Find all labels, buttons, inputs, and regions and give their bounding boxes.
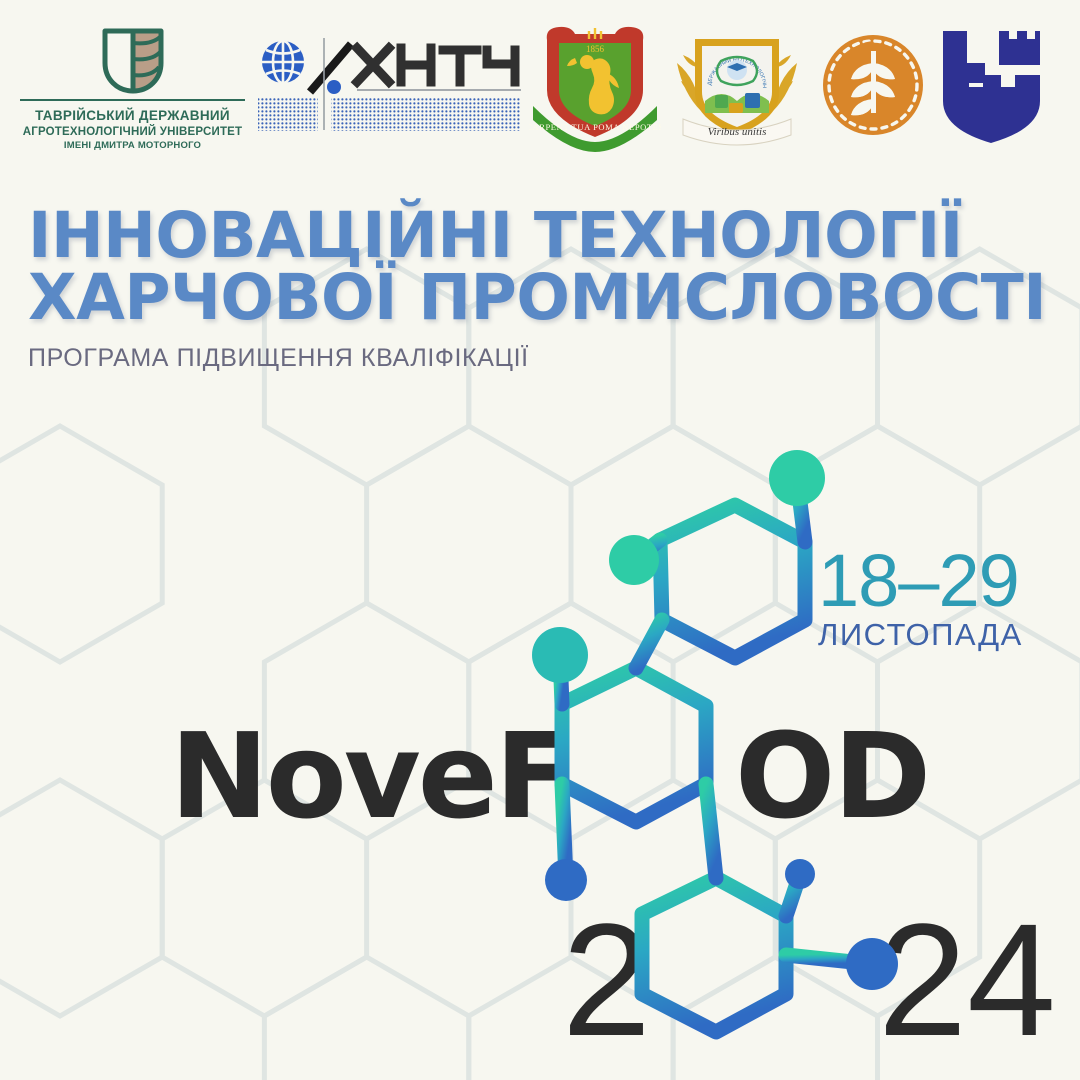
tdatu-line-3: ІМЕНІ ДМИТРА МОТОРНОГО (20, 140, 245, 152)
event-month: ЛИСТОПАДА (818, 617, 1023, 653)
event-date-block: 18–29 ЛИСТОПАДА (818, 548, 1023, 653)
molecule-node-a (769, 450, 825, 506)
partner-logo-strip: ТАВРІЙСЬКИЙ ДЕРЖАВНИЙ АГРОТЕХНОЛОГІЧНИЙ … (0, 0, 1080, 175)
year-digit-2: 2 (562, 900, 651, 1060)
molecule-stub-node-f (786, 955, 872, 964)
molecule-ring-bottom (642, 878, 786, 1032)
headline-line-2: ХАРЧОВОЇ ПРОМИСЛОВОСТІ (28, 267, 1046, 329)
headline-block: ІННОВАЦІЙНІ ТЕХНОЛОГІЇ ХАРЧОВОЇ ПРОМИСЛО… (28, 205, 1046, 373)
molecule-node-c (532, 627, 588, 683)
wheat-circle-logo (813, 25, 933, 150)
tdatu-logo: ТАВРІЙСЬКИЙ ДЕРЖАВНИЙ АГРОТЕХНОЛОГІЧНИЙ … (20, 23, 245, 152)
castle-shield-icon (939, 25, 1044, 145)
gold-shield-crest-icon: ДЕРЖАВНИЙ БІОТЕХНОЛОГІЧНИЙ УНІВЕРСИТЕТ V… (667, 15, 807, 155)
molecule-bond-top-middle (636, 620, 662, 668)
molecule-bond-middle-bottom (706, 784, 716, 878)
molecule-node-e (785, 859, 815, 889)
molecule-stub-node-b (634, 540, 660, 560)
molecule-ring-top (660, 505, 805, 658)
year-digits-24: 24 (878, 900, 1056, 1060)
biotech-university-crest-logo: ДЕРЖАВНИЙ БІОТЕХНОЛОГІЧНИЙ УНІВЕРСИТЕТ V… (667, 15, 807, 160)
headline-line-1: ІННОВАЦІЙНІ ТЕХНОЛОГІЇ (28, 205, 1046, 267)
crest-year: 1856 (586, 44, 605, 54)
kharkiv-tower-logo (939, 25, 1044, 150)
event-date-range: 18–29 (818, 548, 1023, 613)
molecule-stub-node-e (786, 874, 800, 916)
wordmark-od: OD (735, 717, 929, 835)
molecule-node-b (609, 535, 659, 585)
khntu-mark-icon (253, 30, 523, 140)
lviv-crest-logo: 1856 CARPENT TUA POMA NEPOTES (529, 18, 661, 158)
molecule-stub-node-a (797, 478, 805, 542)
headline-subtitle: ПРОГРАМА ПІДВИЩЕННЯ КВАЛІФІКАЦІЇ (28, 344, 1046, 373)
wheat-ear-circle-icon (813, 25, 933, 145)
shield-lion-crest-icon: 1856 CARPENT TUA POMA NEPOTES (529, 18, 661, 153)
crest-motto: Viribus unitis (708, 126, 767, 138)
khntu-logo (253, 30, 523, 145)
tdatu-line-2: АГРОТЕХНОЛОГІЧНИЙ УНІВЕРСИТЕТ (20, 125, 245, 140)
molecule-stub-node-c (560, 655, 562, 704)
tdatu-divider (20, 99, 245, 101)
leaf-mark-icon (97, 23, 169, 95)
crest-motto: CARPENT TUA POMA NEPOTES (529, 122, 661, 132)
wordmark-novef: NoveF (170, 717, 572, 835)
molecule-ring-middle (562, 668, 706, 822)
tdatu-line-1: ТАВРІЙСЬКИЙ ДЕРЖАВНИЙ (20, 108, 245, 125)
